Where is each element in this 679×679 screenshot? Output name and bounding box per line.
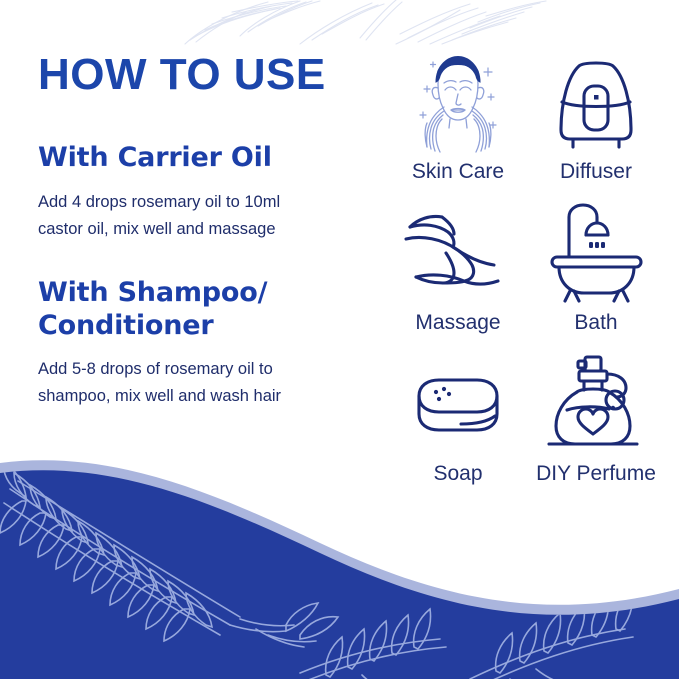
usage-item-bath: Bath xyxy=(530,201,662,334)
usage-label-diffuser: Diffuser xyxy=(560,160,632,183)
perfume-bottle-icon xyxy=(541,352,651,456)
shampoo-heading-line-2: Conditioner xyxy=(38,310,214,341)
instructions-column: HOW TO USE With Carrier Oil Add 4 drops … xyxy=(38,52,378,410)
carrier-oil-body-line-1: Add 4 drops rosemary oil to 10ml xyxy=(38,193,280,211)
section-body-carrier-oil: Add 4 drops rosemary oil to 10ml castor … xyxy=(38,189,358,242)
face-massage-icon xyxy=(403,50,513,154)
usage-label-skin-care: Skin Care xyxy=(412,160,504,183)
section-carrier-oil: With Carrier Oil Add 4 drops rosemary oi… xyxy=(38,142,378,242)
page-title: HOW TO USE xyxy=(38,52,378,98)
usage-icon-grid: Skin Care xyxy=(392,50,662,485)
diffuser-icon xyxy=(546,50,646,154)
how-to-use-infographic: HOW TO USE With Carrier Oil Add 4 drops … xyxy=(0,0,679,679)
top-rosemary-decoration xyxy=(0,0,679,46)
usage-label-massage: Massage xyxy=(415,311,500,334)
shampoo-heading-line-1: With Shampoo/ xyxy=(38,277,267,308)
section-heading-shampoo-conditioner: With Shampoo/ Conditioner xyxy=(38,277,378,343)
carrier-oil-body-line-2: castor oil, mix well and massage xyxy=(38,220,276,238)
shampoo-body-line-2: shampoo, mix well and wash hair xyxy=(38,387,281,405)
usage-item-diffuser: Diffuser xyxy=(530,50,662,183)
massage-hands-icon xyxy=(398,201,518,305)
shampoo-body-line-1: Add 5-8 drops of rosemary oil to xyxy=(38,360,273,378)
usage-item-diy-perfume: DIY Perfume xyxy=(530,352,662,485)
soap-bar-icon xyxy=(403,352,513,456)
section-heading-carrier-oil: With Carrier Oil xyxy=(38,142,378,175)
usage-item-skin-care: Skin Care xyxy=(392,50,524,183)
usage-label-bath: Bath xyxy=(574,311,617,334)
bathtub-shower-icon xyxy=(544,201,649,305)
section-shampoo-conditioner: With Shampoo/ Conditioner Add 5-8 drops … xyxy=(38,277,378,410)
usage-item-massage: Massage xyxy=(392,201,524,334)
usage-item-soap: Soap xyxy=(392,352,524,485)
usage-label-diy-perfume: DIY Perfume xyxy=(536,462,656,485)
usage-label-soap: Soap xyxy=(433,462,482,485)
section-body-shampoo-conditioner: Add 5-8 drops of rosemary oil to shampoo… xyxy=(38,356,358,409)
